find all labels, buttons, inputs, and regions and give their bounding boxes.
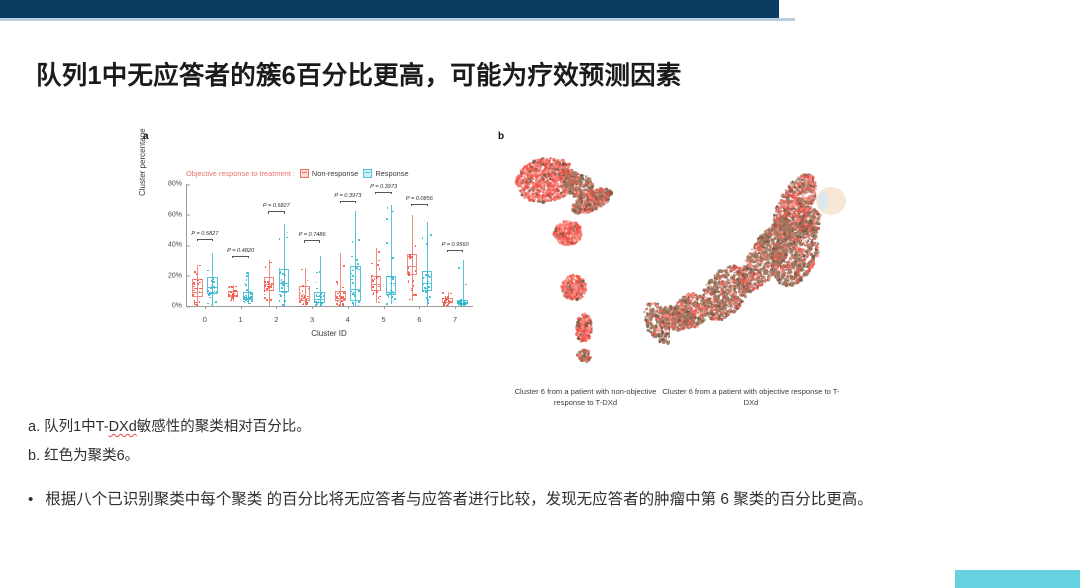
data-point bbox=[411, 290, 413, 292]
data-point bbox=[306, 303, 308, 305]
p-value-label-0: P = 0.5827 bbox=[191, 231, 218, 237]
data-point bbox=[426, 297, 428, 299]
data-point bbox=[282, 304, 284, 306]
header-accent-bar-navy bbox=[0, 0, 779, 18]
data-point bbox=[236, 295, 238, 297]
data-point bbox=[378, 260, 380, 262]
legend-item-non-response: Non-response bbox=[300, 169, 358, 178]
data-point bbox=[356, 259, 358, 261]
plot-area: 0%20%40%60%80%0P = 0.58271P = 0.48202P =… bbox=[186, 184, 473, 307]
data-point bbox=[352, 241, 354, 243]
data-point bbox=[320, 296, 322, 298]
data-point bbox=[321, 302, 323, 304]
data-point bbox=[460, 305, 462, 307]
tissue-caption-non-response: Cluster 6 from a patient with non-object… bbox=[498, 386, 673, 408]
data-point bbox=[280, 295, 282, 297]
data-point bbox=[408, 272, 410, 274]
x-tick-2: 2 bbox=[274, 315, 278, 324]
y-tick-1: 20% bbox=[168, 272, 187, 279]
data-point bbox=[393, 301, 395, 303]
data-point bbox=[192, 294, 194, 296]
data-point bbox=[446, 298, 448, 300]
data-point bbox=[235, 286, 237, 288]
legend-swatch-non-response bbox=[300, 169, 309, 178]
data-point bbox=[388, 296, 390, 298]
data-point bbox=[458, 267, 460, 269]
data-point bbox=[250, 293, 252, 295]
data-point bbox=[209, 297, 211, 299]
data-point bbox=[338, 305, 340, 307]
data-point bbox=[282, 291, 284, 293]
data-point bbox=[232, 293, 234, 295]
data-point bbox=[316, 288, 318, 290]
data-point bbox=[354, 295, 356, 297]
data-point bbox=[343, 265, 345, 267]
data-point bbox=[269, 302, 271, 304]
tissue-scatter-svg-1 bbox=[500, 138, 670, 373]
significance-bar-5 bbox=[375, 192, 391, 193]
data-point bbox=[387, 276, 389, 278]
data-point bbox=[379, 296, 381, 298]
data-point bbox=[199, 265, 201, 267]
data-point bbox=[194, 304, 196, 306]
data-point bbox=[372, 286, 374, 288]
data-point bbox=[422, 237, 424, 239]
y-tick-3: 60% bbox=[168, 211, 187, 218]
note-line-b: b. 红色为聚类6。 bbox=[28, 444, 139, 465]
data-point bbox=[394, 298, 396, 300]
data-point bbox=[286, 237, 288, 239]
data-point bbox=[378, 251, 380, 253]
data-point bbox=[301, 269, 303, 271]
data-point bbox=[215, 301, 217, 303]
data-point bbox=[427, 238, 429, 240]
p-value-label-3: P = 0.7486 bbox=[299, 232, 326, 238]
data-point bbox=[231, 299, 233, 301]
data-point bbox=[318, 299, 320, 301]
data-point bbox=[264, 285, 266, 287]
data-point bbox=[425, 274, 427, 276]
x-tick-7: 7 bbox=[453, 315, 457, 324]
data-point bbox=[408, 281, 410, 283]
data-point bbox=[246, 279, 248, 281]
data-point bbox=[270, 262, 272, 264]
p-value-label-2: P = 0.5827 bbox=[263, 203, 290, 209]
data-point bbox=[246, 296, 248, 298]
data-point bbox=[231, 286, 233, 288]
data-point bbox=[392, 278, 394, 280]
tissue-scatter-svg-2 bbox=[655, 143, 870, 371]
legend-label-response: Response bbox=[375, 169, 408, 178]
data-point bbox=[422, 290, 424, 292]
median-line bbox=[372, 284, 381, 285]
data-point bbox=[320, 304, 322, 306]
p-value-label-6: P = 0.0856 bbox=[406, 196, 433, 202]
data-point bbox=[342, 287, 344, 289]
data-point bbox=[266, 299, 268, 301]
boxplot-chart: Objective response to treatment : Non-re… bbox=[140, 166, 480, 351]
data-point bbox=[282, 284, 284, 286]
bullet-item: • 根据八个已识别聚类中每个聚类 的百分比将无应答者与应答者进行比较，发现无应答… bbox=[28, 485, 1038, 515]
data-point bbox=[394, 283, 396, 285]
data-point bbox=[429, 296, 431, 298]
data-point bbox=[246, 275, 248, 277]
data-point bbox=[447, 304, 449, 306]
data-point bbox=[392, 211, 394, 213]
significance-bar-3 bbox=[304, 240, 320, 241]
data-point bbox=[199, 301, 201, 303]
data-point bbox=[424, 287, 426, 289]
tissue-image-non-response bbox=[500, 138, 670, 373]
data-point bbox=[413, 285, 415, 287]
data-point bbox=[228, 296, 230, 298]
p-value-label-7: P = 0.9560 bbox=[442, 242, 469, 248]
data-point bbox=[245, 284, 247, 286]
data-point bbox=[357, 263, 359, 265]
page-title: 队列1中无应答者的簇6百分比更高，可能为疗效预测因素 bbox=[36, 55, 1036, 92]
data-point bbox=[300, 302, 302, 304]
p-value-label-1: P = 0.4820 bbox=[227, 248, 254, 254]
note-line-a-misspelled: DXd bbox=[109, 419, 137, 435]
data-point bbox=[281, 287, 283, 289]
data-point bbox=[249, 303, 251, 305]
data-point bbox=[390, 290, 392, 292]
x-tick-1: 1 bbox=[239, 315, 243, 324]
data-point bbox=[430, 234, 432, 236]
bullet-marker: • bbox=[28, 485, 33, 515]
p-value-label-5: P = 0.3973 bbox=[370, 184, 397, 190]
data-point bbox=[316, 272, 318, 274]
significance-bar-6 bbox=[411, 204, 427, 205]
tissue-bubble-highlight bbox=[818, 192, 828, 210]
median-line bbox=[193, 292, 202, 293]
data-point bbox=[207, 303, 209, 305]
data-point bbox=[243, 301, 245, 303]
data-point bbox=[415, 245, 417, 247]
x-tick-4: 4 bbox=[346, 315, 350, 324]
x-tick-5: 5 bbox=[382, 315, 386, 324]
bullet-paragraph: 根据八个已识别聚类中每个聚类 的百分比将无应答者与应答者进行比较，发现无应答者的… bbox=[45, 485, 1005, 515]
tissue-caption-response: Cluster 6 from a patient with objective … bbox=[660, 386, 842, 408]
data-point bbox=[450, 301, 452, 303]
data-point bbox=[279, 272, 281, 274]
data-point bbox=[351, 256, 353, 258]
data-point bbox=[358, 301, 360, 303]
header-accent-underline bbox=[0, 18, 795, 21]
data-point bbox=[207, 270, 209, 272]
data-point bbox=[228, 287, 230, 289]
data-point bbox=[304, 296, 306, 298]
data-point bbox=[352, 282, 354, 284]
data-point bbox=[339, 295, 341, 297]
significance-bar-2 bbox=[268, 211, 284, 212]
data-point bbox=[287, 232, 289, 234]
data-point bbox=[251, 300, 253, 302]
data-point bbox=[352, 275, 354, 277]
data-point bbox=[336, 296, 338, 298]
note-line-a: a. 队列1中T-DXd敏感性的聚类相对百分比。 bbox=[28, 415, 311, 436]
y-tick-2: 40% bbox=[168, 242, 187, 249]
data-point bbox=[342, 304, 344, 306]
significance-bar-1 bbox=[232, 256, 248, 257]
y-tick-4: 80% bbox=[168, 181, 187, 188]
y-tick-0: 0% bbox=[172, 303, 187, 310]
data-point bbox=[301, 295, 303, 297]
data-point bbox=[343, 292, 345, 294]
data-point bbox=[427, 282, 429, 284]
p-value-label-4: P = 0.3973 bbox=[334, 193, 361, 199]
figure-container: a b Objective response to treatment : No… bbox=[0, 118, 1080, 408]
significance-bar-7 bbox=[447, 250, 463, 251]
data-point bbox=[392, 257, 394, 259]
data-point bbox=[270, 299, 272, 301]
chart-legend: Objective response to treatment : Non-re… bbox=[186, 166, 476, 180]
data-point bbox=[353, 304, 355, 306]
note-line-a-prefix: a. 队列1中T- bbox=[28, 419, 109, 435]
legend-item-response: Response bbox=[363, 169, 408, 178]
data-point bbox=[378, 297, 380, 299]
data-point bbox=[377, 264, 379, 266]
data-point bbox=[208, 294, 210, 296]
data-point bbox=[342, 296, 344, 298]
data-point bbox=[246, 289, 248, 291]
data-point bbox=[284, 300, 286, 302]
data-point bbox=[426, 243, 428, 245]
data-point bbox=[371, 263, 373, 265]
data-point bbox=[409, 254, 411, 256]
x-tick-0: 0 bbox=[203, 315, 207, 324]
data-point bbox=[378, 302, 380, 304]
data-point bbox=[337, 300, 339, 302]
data-point bbox=[264, 281, 266, 283]
data-point bbox=[386, 242, 388, 244]
data-point bbox=[307, 280, 309, 282]
data-point bbox=[246, 272, 248, 274]
data-point bbox=[358, 305, 360, 307]
data-point bbox=[376, 291, 378, 293]
data-point bbox=[443, 305, 445, 307]
x-axis-label: Cluster ID bbox=[186, 329, 472, 338]
data-point bbox=[428, 286, 430, 288]
data-point bbox=[413, 280, 415, 282]
data-point bbox=[415, 294, 417, 296]
data-point bbox=[336, 303, 338, 305]
legend-label-non-response: Non-response bbox=[312, 169, 358, 178]
y-axis-label: Cluster percentage bbox=[138, 128, 147, 196]
data-point bbox=[315, 282, 317, 284]
data-point bbox=[195, 302, 197, 304]
data-point bbox=[387, 207, 389, 209]
data-point bbox=[235, 290, 237, 292]
data-point bbox=[429, 276, 431, 278]
data-point bbox=[428, 302, 430, 304]
data-point bbox=[409, 299, 411, 301]
data-point bbox=[415, 270, 417, 272]
data-point bbox=[386, 218, 388, 220]
data-point bbox=[302, 285, 304, 287]
data-point bbox=[427, 299, 429, 301]
data-point bbox=[279, 300, 281, 302]
data-point bbox=[444, 304, 446, 306]
data-point bbox=[234, 290, 236, 292]
data-point bbox=[233, 298, 235, 300]
data-point bbox=[450, 293, 452, 295]
data-point bbox=[270, 286, 272, 288]
x-tick-3: 3 bbox=[310, 315, 314, 324]
data-point bbox=[358, 290, 360, 292]
data-point bbox=[447, 296, 449, 298]
data-point bbox=[386, 303, 388, 305]
legend-swatch-response bbox=[363, 169, 372, 178]
data-point bbox=[379, 268, 381, 270]
data-point bbox=[320, 293, 322, 295]
data-point bbox=[285, 283, 287, 285]
data-point bbox=[196, 304, 198, 306]
data-point bbox=[427, 295, 429, 297]
data-point bbox=[213, 281, 215, 283]
legend-title: Objective response to treatment : bbox=[186, 169, 295, 178]
data-point bbox=[343, 298, 345, 300]
data-point bbox=[465, 284, 467, 286]
data-point bbox=[358, 239, 360, 241]
data-point bbox=[211, 280, 213, 282]
data-point bbox=[212, 292, 214, 294]
data-point bbox=[268, 283, 270, 285]
data-point bbox=[341, 297, 343, 299]
footer-accent-bar-cyan bbox=[955, 570, 1080, 588]
data-point bbox=[265, 266, 267, 268]
x-tick-6: 6 bbox=[417, 315, 421, 324]
data-point bbox=[193, 286, 195, 288]
whisker bbox=[284, 224, 285, 306]
whisker bbox=[427, 222, 428, 306]
note-line-a-suffix: 敏感性的聚类相对百分比。 bbox=[137, 419, 311, 435]
data-point bbox=[442, 292, 444, 294]
tissue-image-response bbox=[655, 143, 870, 371]
data-point bbox=[264, 294, 266, 296]
data-point bbox=[193, 282, 195, 284]
data-point bbox=[279, 238, 281, 240]
significance-bar-4 bbox=[340, 201, 356, 202]
data-point bbox=[411, 256, 413, 258]
data-point bbox=[285, 291, 287, 293]
data-point bbox=[337, 283, 339, 285]
data-point bbox=[267, 281, 269, 283]
data-point bbox=[317, 304, 319, 306]
significance-bar-0 bbox=[197, 239, 213, 240]
data-point bbox=[425, 291, 427, 293]
data-point bbox=[372, 294, 374, 296]
